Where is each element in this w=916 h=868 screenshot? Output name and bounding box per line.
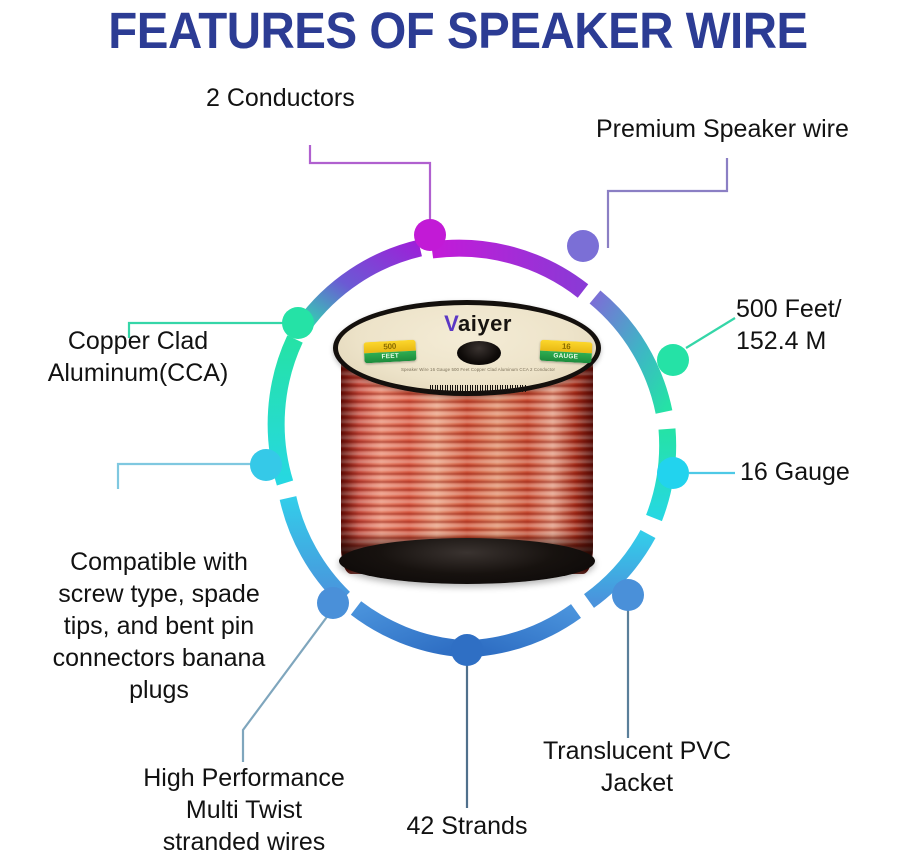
leader-line-premium xyxy=(608,158,727,248)
node-strands[interactable] xyxy=(451,634,483,666)
feature-label-compatibility: Compatible with screw type, spade tips, … xyxy=(14,546,304,706)
barcode xyxy=(430,385,526,392)
node-length[interactable] xyxy=(657,344,689,376)
label-fineprint: Speaker Wire 16 Gauge 500 Feet Copper Cl… xyxy=(384,367,572,373)
node-cca[interactable] xyxy=(282,307,314,339)
node-pvc-jacket[interactable] xyxy=(612,579,644,611)
brand-logo: Vaiyer xyxy=(338,313,618,335)
product-image-speaker-wire-spool: Vaiyer 500 FEET 16 GAUGE Speaker Wire 16… xyxy=(327,300,607,590)
node-premium-wire[interactable] xyxy=(567,230,599,262)
badge-gauge: 16 GAUGE xyxy=(539,340,592,364)
spool-center-hole xyxy=(457,341,501,365)
badge-gauge-unit: GAUGE xyxy=(539,351,591,364)
spool-top-label: Vaiyer 500 FEET 16 GAUGE Speaker Wire 16… xyxy=(333,300,601,396)
node-gauge[interactable] xyxy=(657,457,689,489)
infographic-canvas: FEATURES OF SPEAKER WIRE xyxy=(0,0,916,868)
feature-label-multi-twist: High Performance Multi Twist stranded wi… xyxy=(110,762,378,858)
ring-arc-bottom-left xyxy=(356,608,455,648)
leader-line-compatibility xyxy=(118,464,266,489)
feature-label-cca: Copper Clad Aluminum(CCA) xyxy=(8,325,268,389)
ring-arc-top xyxy=(432,248,583,291)
badge-length: 500 FEET xyxy=(363,340,416,364)
leader-line-length xyxy=(686,318,735,348)
feature-label-strands: 42 Strands xyxy=(352,810,582,842)
feature-label-gauge: 16 Gauge xyxy=(740,456,916,488)
brand-initial: V xyxy=(444,311,458,336)
feature-label-pvc-jacket: Translucent PVC Jacket xyxy=(512,735,762,799)
node-compatibility[interactable] xyxy=(250,449,282,481)
feature-label-conductors: 2 Conductors xyxy=(206,82,416,114)
ring-arc-bottom-right xyxy=(479,611,576,648)
spool-bottom-flange xyxy=(339,538,595,584)
node-conductors[interactable] xyxy=(414,219,446,251)
feature-label-premium-wire: Premium Speaker wire xyxy=(596,113,916,145)
feature-label-length: 500 Feet/ 152.4 M xyxy=(736,293,916,357)
node-multi-twist[interactable] xyxy=(317,587,349,619)
leader-line-conductors xyxy=(310,145,430,226)
brand-rest: aiyer xyxy=(458,311,512,336)
badge-length-unit: FEET xyxy=(364,351,416,364)
